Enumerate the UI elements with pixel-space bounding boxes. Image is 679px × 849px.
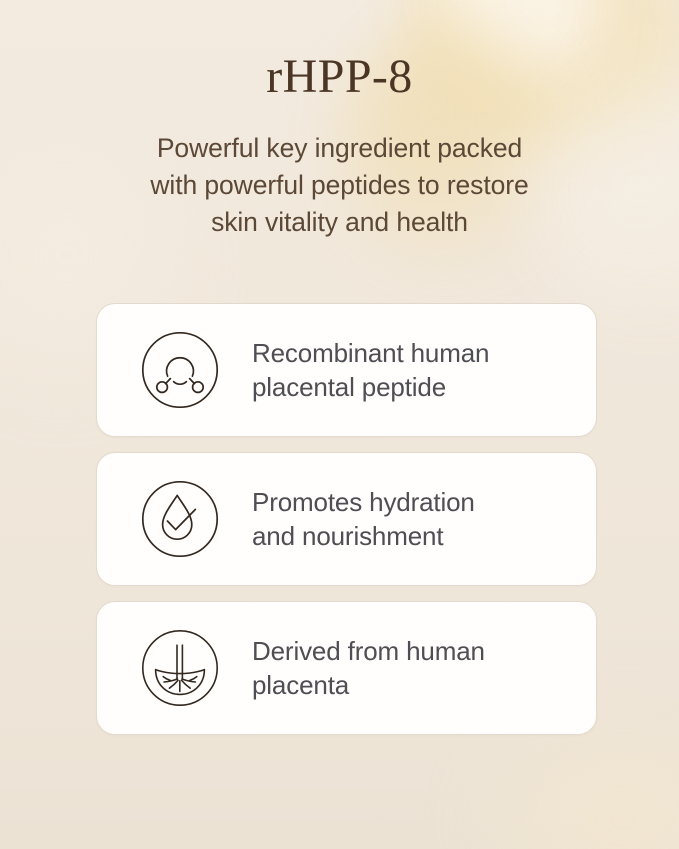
page-subtitle: Powerful key ingredient packed with powe…	[0, 130, 679, 241]
feature-card: Recombinant human placental peptide	[96, 303, 597, 437]
page-title: rHPP-8	[0, 52, 679, 103]
water-droplet-check-icon	[141, 480, 219, 558]
feature-card-label: Promotes hydration and nourishment	[252, 485, 596, 553]
feature-card-label: Derived from human placenta	[252, 634, 596, 702]
feature-card-list: Recombinant human placental peptide Prom…	[96, 303, 597, 735]
placenta-icon	[141, 629, 219, 707]
ingredient-infographic: rHPP-8 Powerful key ingredient packed wi…	[0, 0, 679, 849]
feature-card: Promotes hydration and nourishment	[96, 452, 597, 586]
feature-card-label: Recombinant human placental peptide	[252, 336, 596, 404]
peptide-molecule-icon	[141, 331, 219, 409]
feature-card: Derived from human placenta	[96, 601, 597, 735]
